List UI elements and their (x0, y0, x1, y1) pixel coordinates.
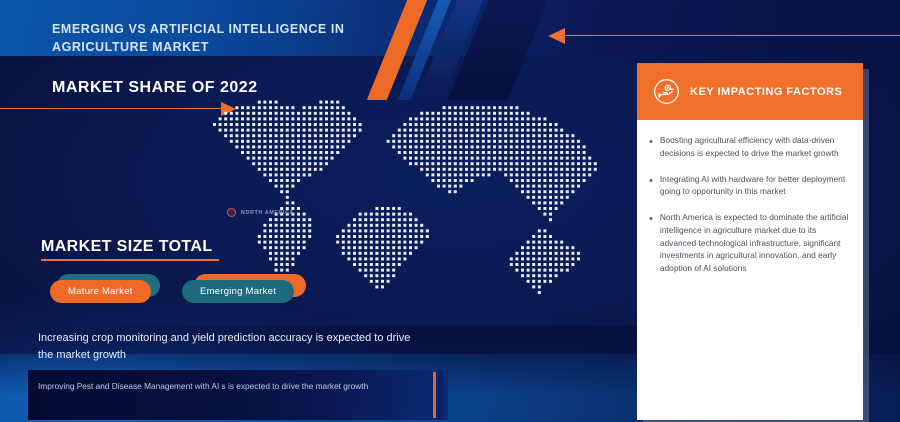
list-item-text: North America is expected to dominate th… (660, 211, 849, 275)
bottom-strip-text: Improving Pest and Disease Management wi… (38, 380, 388, 393)
key-impacting-factors-card: KEY IMPACTING FACTORS • Boosting agricul… (637, 63, 863, 420)
list-item: • North America is expected to dominate … (649, 211, 849, 275)
north-america-marker: NORTH AMERICA (227, 208, 294, 217)
legend-pill-label: Mature Market (50, 280, 151, 303)
market-size-heading: MARKET SIZE TOTAL (41, 238, 213, 256)
key-impacting-factors-list: • Boosting agricultural efficiency with … (637, 120, 863, 275)
list-item: • Integrating AI with hardware for bette… (649, 173, 849, 199)
hand-holding-coin-icon (653, 78, 680, 105)
bullet-icon: • (649, 211, 653, 275)
strip-accent-bar (433, 372, 436, 418)
main-paragraph: Increasing crop monitoring and yield pre… (38, 330, 418, 363)
list-item-text: Boosting agricultural efficiency with da… (660, 134, 849, 160)
list-item: • Boosting agricultural efficiency with … (649, 134, 849, 160)
key-impacting-factors-title: KEY IMPACTING FACTORS (690, 86, 842, 98)
strip-edge-bar (438, 370, 446, 420)
key-impacting-factors-header: KEY IMPACTING FACTORS (637, 63, 863, 120)
bottom-strip: Improving Pest and Disease Management wi… (28, 370, 448, 420)
page-title: EMERGING VS ARTIFICIAL INTELLIGENCE IN A… (52, 20, 382, 56)
market-size-underline (41, 259, 219, 261)
bullet-icon: • (649, 173, 653, 199)
bullet-icon: • (649, 134, 653, 160)
legend-pill-mature-market[interactable]: Mature Market (50, 280, 151, 303)
arrow-left-line (562, 35, 900, 36)
location-circle-icon (227, 208, 236, 217)
legend-pill-emerging-market[interactable]: Emerging Market (182, 280, 294, 303)
list-item-text: Integrating AI with hardware for better … (660, 173, 849, 199)
top-right-arrow-left-icon (548, 28, 900, 44)
north-america-label: NORTH AMERICA (241, 210, 294, 216)
legend-pill-label: Emerging Market (182, 280, 294, 303)
infographic-canvas: EMERGING VS ARTIFICIAL INTELLIGENCE IN A… (0, 0, 900, 422)
